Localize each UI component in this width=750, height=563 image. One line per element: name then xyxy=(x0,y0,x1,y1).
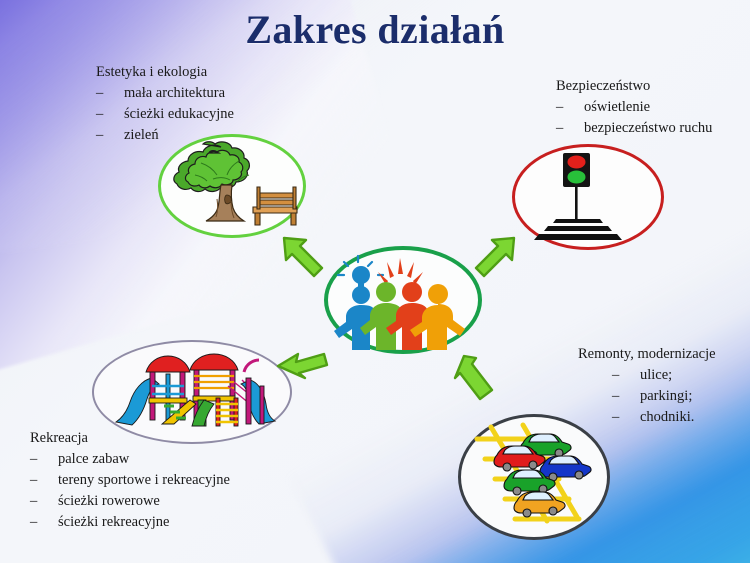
arrow-down-left-icon xyxy=(272,326,332,382)
bullet-dash: – xyxy=(30,449,52,470)
exclamation-marks-icon xyxy=(378,258,423,285)
bullet-dash: – xyxy=(96,83,118,104)
bullet-dash: – xyxy=(556,97,578,118)
text-block-remonty: Remonty, modernizacje –ulice; –parkingi;… xyxy=(578,344,716,428)
list-item: –ścieżki edukacyjne xyxy=(96,104,234,125)
list-item: –ścieżki rekreacyjne xyxy=(30,512,230,533)
arrow-up-left xyxy=(276,230,332,291)
list-item: –oświetlenie xyxy=(556,97,712,118)
bullet-dash: – xyxy=(30,491,52,512)
list-item-label: bezpieczeństwo ruchu xyxy=(584,118,712,139)
car-orange xyxy=(514,492,565,517)
arrow-up-right-icon xyxy=(466,230,522,286)
bullet-dash: – xyxy=(612,365,634,386)
people-group-icon xyxy=(328,250,478,350)
tree-and-bench-icon xyxy=(161,137,303,235)
arrow-down-left xyxy=(272,326,332,387)
node-playground xyxy=(92,340,292,444)
list-item: –bezpieczeństwo ruchu xyxy=(556,118,712,139)
list-item-label: ulice; xyxy=(640,365,672,386)
arrow-up-right xyxy=(466,230,522,291)
list-item-label: parkingi; xyxy=(640,386,692,407)
traffic-green-lamp xyxy=(568,171,586,184)
text-block-ekologia: Estetyka i ekologia –mała architektura –… xyxy=(96,62,234,146)
node-cars xyxy=(458,414,610,540)
list-item: –ścieżki rowerowe xyxy=(30,491,230,512)
arrow-down-right-icon xyxy=(448,350,504,412)
list-item: –mała architektura xyxy=(96,83,234,104)
slide: Zakres działań Estetyka i ekologia –mała… xyxy=(0,0,750,563)
bullet-dash: – xyxy=(556,118,578,139)
list-item-label: mała architektura xyxy=(124,83,225,104)
bench-icon xyxy=(253,187,297,225)
crosswalk-icon xyxy=(534,219,622,240)
bullet-dash: – xyxy=(30,470,52,491)
list-item-label: tereny sportowe i rekreacyjne xyxy=(58,470,230,491)
parking-cars-icon xyxy=(461,417,607,537)
bullet-dash: – xyxy=(612,386,634,407)
bullet-dash: – xyxy=(96,125,118,146)
traffic-light-crosswalk-icon xyxy=(515,147,661,247)
traffic-red-lamp xyxy=(568,156,586,169)
list-item-label: ścieżki rekreacyjne xyxy=(58,512,170,533)
list-item-label: ścieżki rowerowe xyxy=(58,491,160,512)
bezpieczenstwo-heading: Bezpieczeństwo xyxy=(556,76,712,97)
list-item-label: zieleń xyxy=(124,125,159,146)
list-item: –parkingi; xyxy=(578,386,716,407)
car-blue xyxy=(540,456,591,481)
node-center xyxy=(324,246,482,354)
node-traffic xyxy=(512,144,664,250)
list-item: –ulice; xyxy=(578,365,716,386)
text-block-bezpieczenstwo: Bezpieczeństwo –oświetlenie –bezpieczeńs… xyxy=(556,76,712,139)
bezpieczenstwo-list: –oświetlenie –bezpieczeństwo ruchu xyxy=(556,97,712,139)
bullet-dash: – xyxy=(612,407,634,428)
list-item-label: ścieżki edukacyjne xyxy=(124,104,234,125)
list-item-label: chodniki. xyxy=(640,407,694,428)
rekreacja-list: –palce zabaw –tereny sportowe i rekreacy… xyxy=(30,449,230,533)
arrow-up-left-icon xyxy=(276,230,332,286)
arrow-down-right xyxy=(448,350,504,417)
bullet-dash: – xyxy=(96,104,118,125)
ekologia-heading: Estetyka i ekologia xyxy=(96,62,234,83)
node-tree xyxy=(158,134,306,238)
slide-title: Zakres działań xyxy=(0,6,750,53)
playground-icon xyxy=(94,342,286,440)
list-item-label: oświetlenie xyxy=(584,97,650,118)
person-blue-icon xyxy=(334,286,374,350)
list-item: –palce zabaw xyxy=(30,449,230,470)
list-item: –tereny sportowe i rekreacyjne xyxy=(30,470,230,491)
bullet-dash: – xyxy=(30,512,52,533)
list-item-label: palce zabaw xyxy=(58,449,129,470)
remonty-heading: Remonty, modernizacje xyxy=(578,344,716,365)
